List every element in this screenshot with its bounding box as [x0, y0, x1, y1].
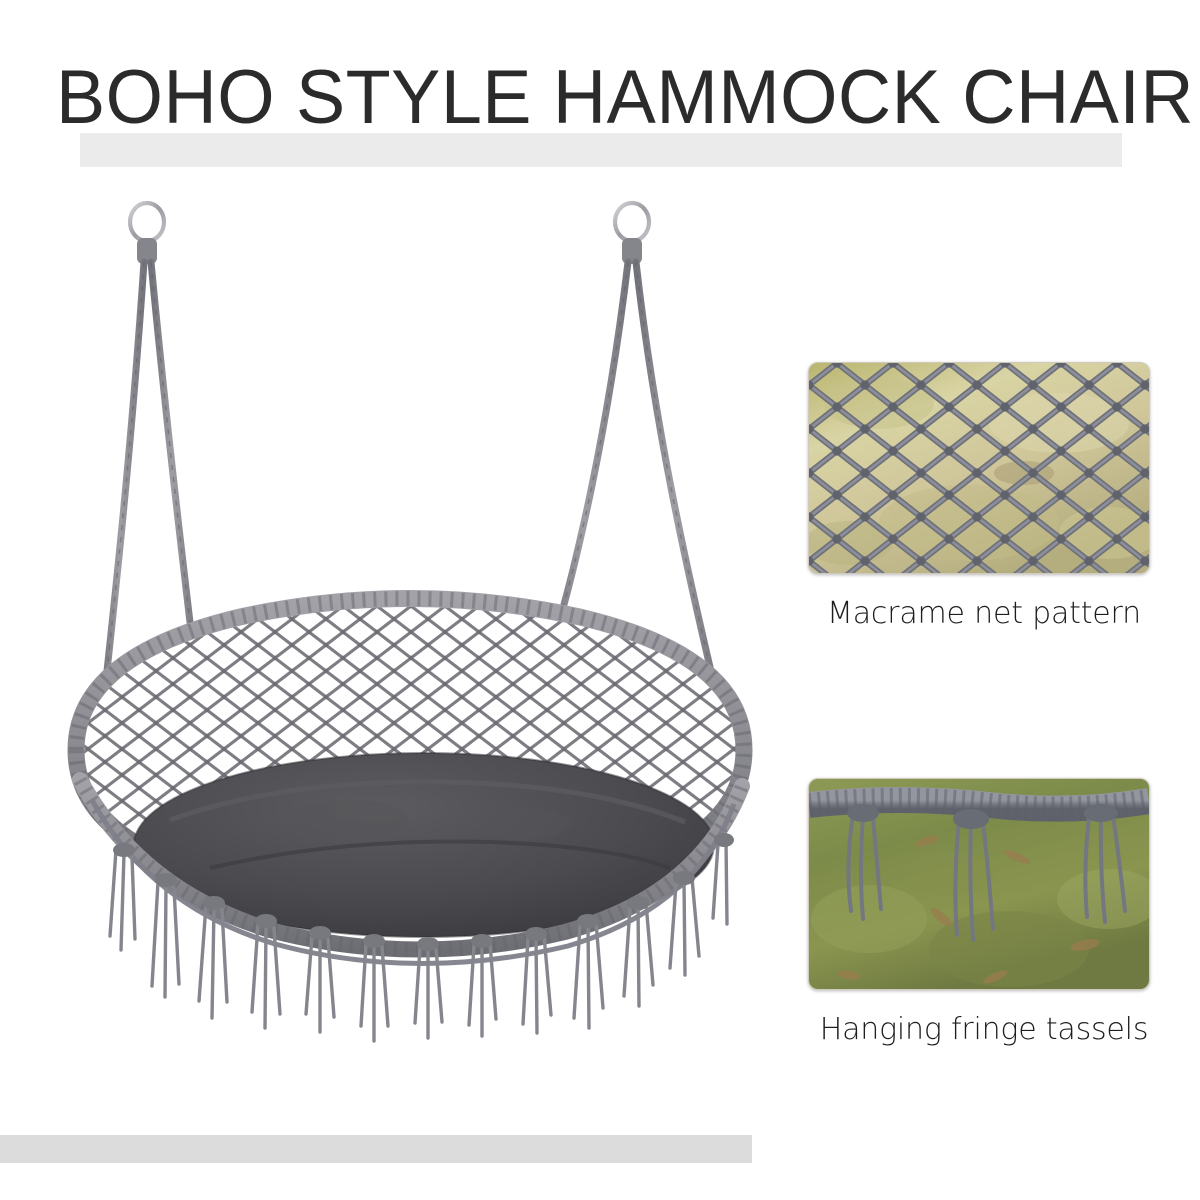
- detail-card-fringe: Hanging fringe tassels: [808, 778, 1160, 1048]
- detail-caption-net: Macrame net pattern: [808, 596, 1160, 632]
- hanging-ring-left: [130, 203, 164, 241]
- infographic-page: BOHO STYLE HAMMOCK CHAIR: [0, 0, 1200, 1200]
- detail-caption-fringe: Hanging fringe tassels: [808, 1012, 1160, 1048]
- hanging-ring-right: [615, 203, 649, 241]
- page-title: BOHO STYLE HAMMOCK CHAIR: [56, 52, 1142, 144]
- footer-background-band: [0, 1135, 752, 1163]
- fringe-tassels-photo: [808, 778, 1150, 990]
- detail-card-net: Macrame net pattern: [808, 362, 1160, 632]
- macrame-net-photo: [808, 362, 1150, 574]
- product-image: [20, 190, 800, 1120]
